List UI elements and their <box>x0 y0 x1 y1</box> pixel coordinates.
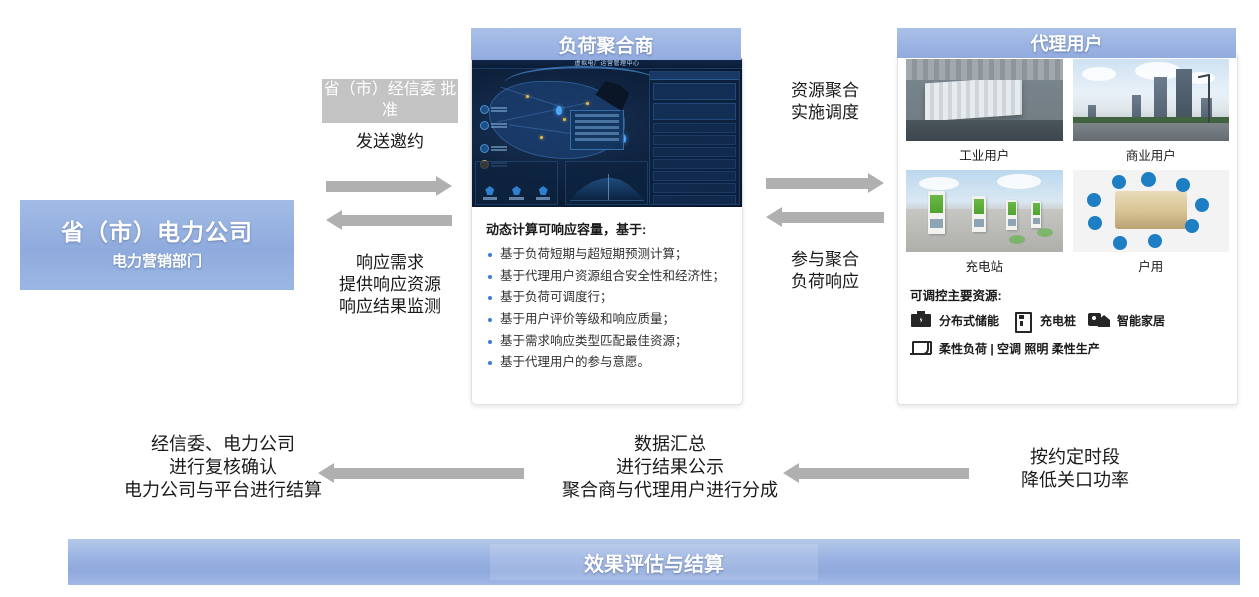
street-lamp-icon <box>1208 75 1210 123</box>
resource-item-pile: 充电桩 <box>1011 310 1088 330</box>
charging-pile-icon <box>1011 310 1033 330</box>
aggregator-header: 负荷聚合商 <box>471 28 741 60</box>
photo-cell-industrial: 工业用户 <box>906 59 1063 170</box>
power-company-subtitle: 电力营销部门 <box>112 250 202 271</box>
arrow-left-participate <box>766 207 884 227</box>
list-item: 基于需求响应类型匹配最佳资源； <box>486 334 728 350</box>
aggregator-card: 虚拟电厂运营管理中心 <box>471 56 743 405</box>
agent-users-photo-grid: 工业用户 商业用户 <box>898 53 1237 281</box>
resource-label: 智能家居 <box>1117 312 1165 329</box>
flow-label-participate: 参与聚合 负荷响应 <box>758 249 892 293</box>
photo-cell-household: 户用 <box>1073 170 1230 281</box>
resource-item-storage: 分布式储能 <box>910 310 1011 330</box>
resources-title: 可调控主要资源: <box>910 285 1227 304</box>
flow-label-send-invite: 发送邀约 <box>322 131 458 153</box>
aggregator-bullet-list: 基于负荷短期与超短期预测计算； 基于代理用户资源组合安全性和经济性； 基于负荷可… <box>486 247 728 371</box>
power-company-box: 省（市）电力公司 电力营销部门 <box>20 200 294 290</box>
resource-item-flexload: 柔性负荷 | 空调 照明 柔性生产 <box>910 338 1112 358</box>
industrial-plant-photo <box>906 59 1063 141</box>
resource-label: 充电桩 <box>1040 312 1076 329</box>
photo-cell-charging: 充电站 <box>906 170 1063 281</box>
list-item: 基于代理用户资源组合安全性和经济性； <box>486 269 728 285</box>
list-item: 基于代理用户的参与意愿。 <box>486 355 728 371</box>
resource-label: 分布式储能 <box>939 312 999 329</box>
aggregator-body: 动态计算可响应容量，基于: 基于负荷短期与超短期预测计算； 基于代理用户资源组合… <box>472 207 742 371</box>
controllable-resources-section: 可调控主要资源: 分布式储能 充电桩 智能家居 柔性负荷 | 空调 照明 柔性生… <box>898 281 1237 358</box>
resource-label: 柔性负荷 | 空调 照明 柔性生产 <box>939 340 1100 357</box>
arrow-left-data-summary <box>783 463 969 483</box>
summary-bar-label: 效果评估与结算 <box>584 548 724 577</box>
ev-charging-station-photo <box>906 170 1063 252</box>
approval-chip: 省（市）经信委 批准 <box>322 79 458 123</box>
agent-users-header: 代理用户 <box>897 28 1236 58</box>
resources-row-1: 分布式储能 充电桩 智能家居 <box>910 310 1227 330</box>
commercial-towers-photo <box>1073 59 1230 141</box>
flow-label-data-summary: 数据汇总 进行结果公示 聚合商与代理用户进行分成 <box>520 433 820 502</box>
agent-users-card: 工业用户 商业用户 <box>897 52 1238 405</box>
photo-caption: 户用 <box>1073 252 1230 281</box>
smart-home-diagram <box>1073 170 1230 252</box>
photo-cell-commercial: 商业用户 <box>1073 59 1230 170</box>
smart-home-icon <box>1088 310 1110 330</box>
list-item: 基于负荷可调度行； <box>486 290 728 306</box>
list-item: 基于用户评价等级和响应质量； <box>486 312 728 328</box>
flow-label-response-demand: 响应需求 提供响应资源 响应结果监测 <box>316 252 464 317</box>
arrow-left-response <box>326 210 452 230</box>
arrow-left-settlement <box>318 463 524 483</box>
photo-caption: 充电站 <box>906 252 1063 281</box>
dashboard-map <box>476 73 643 171</box>
power-company-title: 省（市）电力公司 <box>61 219 253 245</box>
photo-caption: 商业用户 <box>1073 141 1230 170</box>
aggregator-dashboard-screenshot: 虚拟电厂运营管理中心 <box>472 57 742 207</box>
list-item: 基于负荷短期与超短期预测计算； <box>486 247 728 263</box>
map-tooltip <box>570 110 624 150</box>
summary-bar: 效果评估与结算 <box>68 539 1240 585</box>
battery-storage-icon <box>910 310 932 330</box>
arrow-right-invite <box>326 176 452 196</box>
aggregator-body-title: 动态计算可响应容量，基于: <box>486 219 728 238</box>
dashboard-right-panel <box>649 71 740 205</box>
flow-label-resource-aggregate: 资源聚合 实施调度 <box>758 80 892 124</box>
resources-row-2: 柔性负荷 | 空调 照明 柔性生产 <box>910 338 1227 358</box>
flexible-load-icon <box>910 338 932 358</box>
resource-item-smarthome: 智能家居 <box>1088 310 1177 330</box>
dashboard-stats-panel <box>475 161 558 205</box>
arrow-right-dispatch <box>766 173 884 193</box>
flow-label-reduce-power: 按约定时段 降低关口功率 <box>960 446 1190 492</box>
photo-caption: 工业用户 <box>906 141 1063 170</box>
dashboard-load-chart <box>565 161 648 205</box>
